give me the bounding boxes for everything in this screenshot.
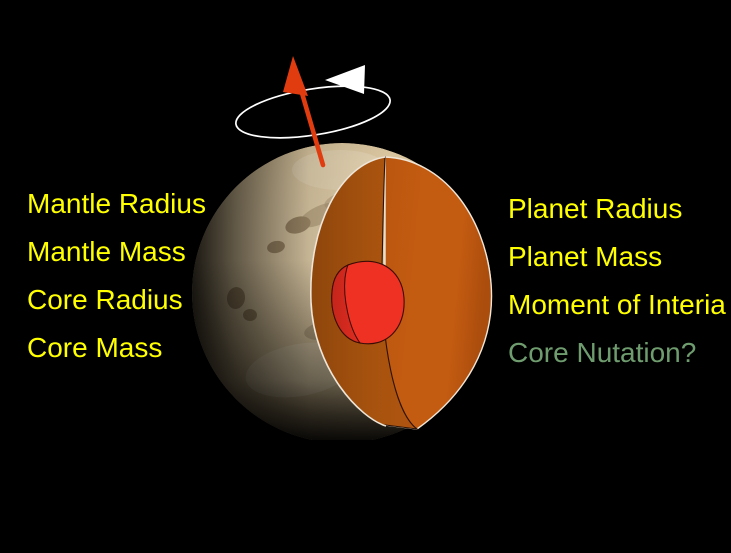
planet-cutaway-figure	[180, 40, 520, 440]
label-planet-radius: Planet Radius	[508, 195, 682, 223]
rotation-direction-arrowhead	[325, 65, 365, 94]
label-mantle-radius: Mantle Radius	[27, 190, 206, 218]
label-core-mass: Core Mass	[27, 334, 162, 362]
label-moment-of-inertia: Moment of Interia	[508, 291, 726, 319]
slide-canvas: Mantle Radius Mantle Mass Core Radius Co…	[0, 0, 731, 553]
label-planet-mass: Planet Mass	[508, 243, 662, 271]
label-mantle-mass: Mantle Mass	[27, 238, 186, 266]
label-core-radius: Core Radius	[27, 286, 183, 314]
label-core-nutation: Core Nutation?	[508, 339, 696, 367]
